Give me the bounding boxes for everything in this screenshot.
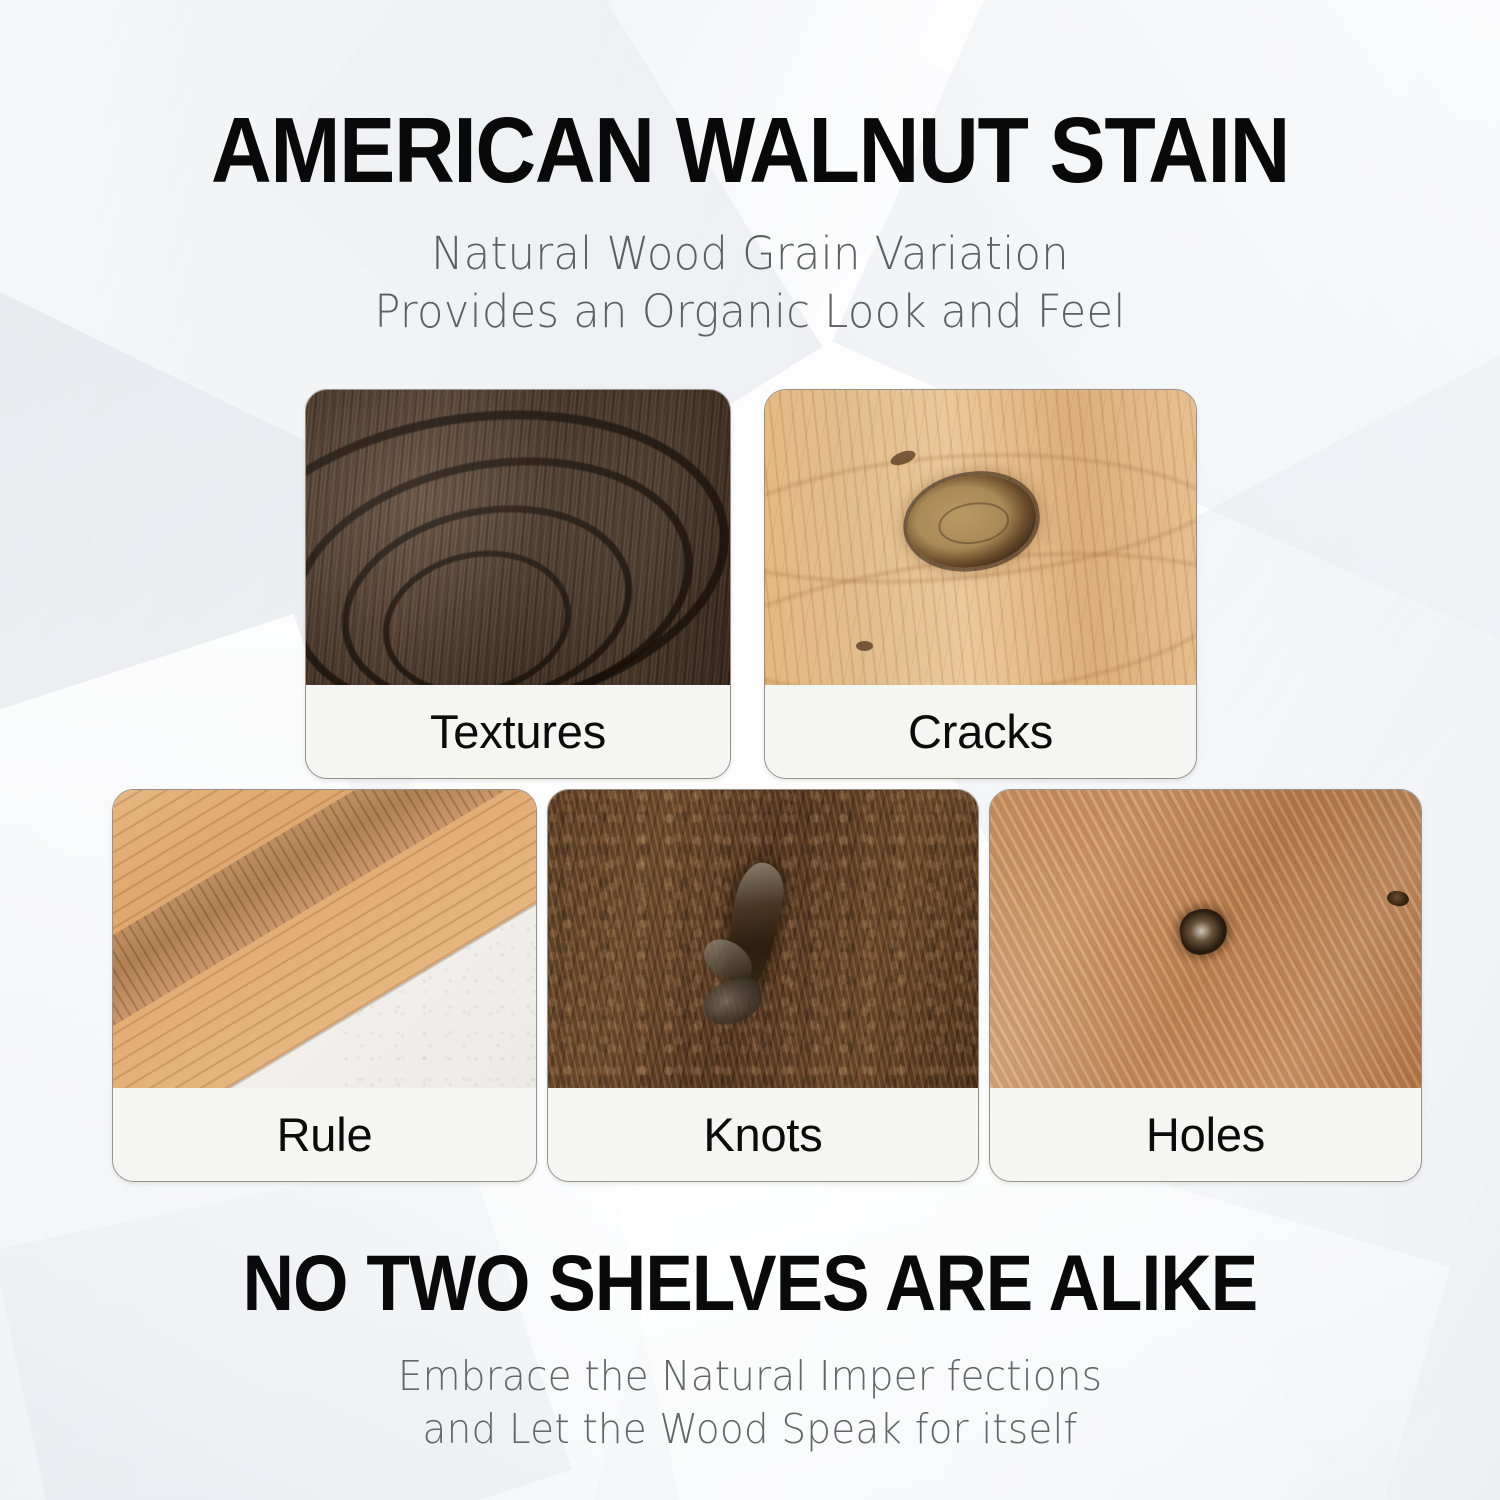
feature-card-knots[interactable]: Knots <box>547 789 979 1182</box>
small-knot-mark <box>856 641 873 651</box>
card-label-holes: Holes <box>990 1088 1421 1181</box>
card-label-cracks: Cracks <box>765 685 1196 778</box>
card-label-textures: Textures <box>306 685 730 778</box>
header-block: AMERICAN WALNUT STAIN Natural Wood Grain… <box>0 104 1500 340</box>
feature-card-holes[interactable]: Holes <box>989 789 1422 1182</box>
feature-card-rule[interactable]: Rule <box>112 789 537 1182</box>
footer-subtitle-line-1: Embrace the Natural Imper fections <box>38 1350 1463 1403</box>
wood-sample-image-textures <box>306 390 730 685</box>
feature-card-textures[interactable]: Textures <box>305 389 731 779</box>
card-label-rule: Rule <box>113 1088 536 1181</box>
page-title: AMERICAN WALNUT STAIN <box>71 104 1429 197</box>
footer-block: NO TWO SHELVES ARE ALIKE Embrace the Nat… <box>0 1243 1500 1457</box>
footer-subtitle: Embrace the Natural Imper fections and L… <box>38 1350 1463 1457</box>
feature-card-cracks[interactable]: Cracks <box>764 389 1197 779</box>
wood-sample-image-rule <box>113 790 536 1088</box>
wood-sample-image-knots <box>548 790 978 1088</box>
page-subtitle: Natural Wood Grain Variation Provides an… <box>30 225 1470 340</box>
card-label-knots: Knots <box>548 1088 978 1181</box>
footer-subtitle-line-2: and Let the Wood Speak for itself <box>38 1403 1463 1456</box>
wood-sample-image-cracks <box>765 390 1196 685</box>
footer-title: NO TWO SHELVES ARE ALIKE <box>75 1243 1425 1322</box>
photo-sheen-overlay <box>306 390 730 685</box>
infographic-page: AMERICAN WALNUT STAIN Natural Wood Grain… <box>0 0 1500 1500</box>
page-subtitle-line-2: Provides an Organic Look and Feel <box>30 283 1470 341</box>
page-subtitle-line-1: Natural Wood Grain Variation <box>30 225 1470 283</box>
wood-sample-image-holes <box>990 790 1421 1088</box>
